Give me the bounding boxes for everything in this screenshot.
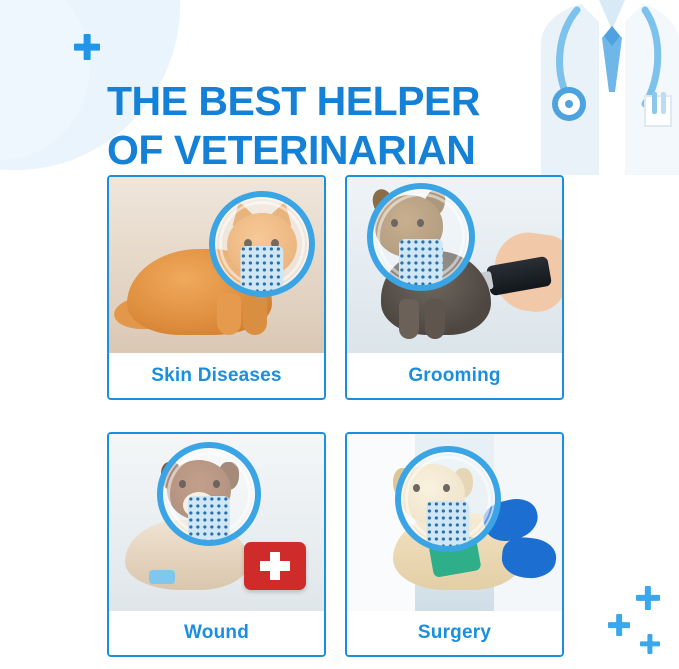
photo-grooming	[347, 177, 562, 357]
cone-collar-icon	[209, 191, 315, 297]
card-caption: Surgery	[347, 611, 562, 655]
page-title: THE BEST HELPER OF VETERINARIAN	[107, 77, 537, 174]
feature-card-wound[interactable]: Wound	[107, 432, 326, 657]
photo-wound	[109, 434, 324, 614]
feature-card-surgery[interactable]: Surgery	[345, 432, 564, 657]
headline-line-1: THE BEST HELPER	[107, 78, 480, 124]
card-caption: Wound	[109, 611, 324, 655]
first-aid-kit-icon	[244, 542, 306, 590]
plus-icon	[608, 614, 630, 636]
photo-surgery	[347, 434, 562, 614]
headline-line-2: OF VETERINARIAN	[107, 126, 537, 174]
cone-collar-icon	[395, 446, 501, 552]
feature-card-grooming[interactable]: Grooming	[345, 175, 564, 400]
plus-icon	[74, 34, 100, 60]
card-caption: Skin Diseases	[109, 353, 324, 398]
photo-skin-diseases	[109, 177, 324, 357]
plus-icon	[640, 634, 660, 654]
feature-card-grid: Skin Diseases Grooming	[107, 175, 573, 655]
cone-collar-icon	[157, 442, 261, 546]
cone-collar-icon	[367, 183, 475, 291]
plus-icon	[636, 586, 660, 610]
card-caption: Grooming	[347, 353, 562, 398]
feature-card-skin-diseases[interactable]: Skin Diseases	[107, 175, 326, 400]
